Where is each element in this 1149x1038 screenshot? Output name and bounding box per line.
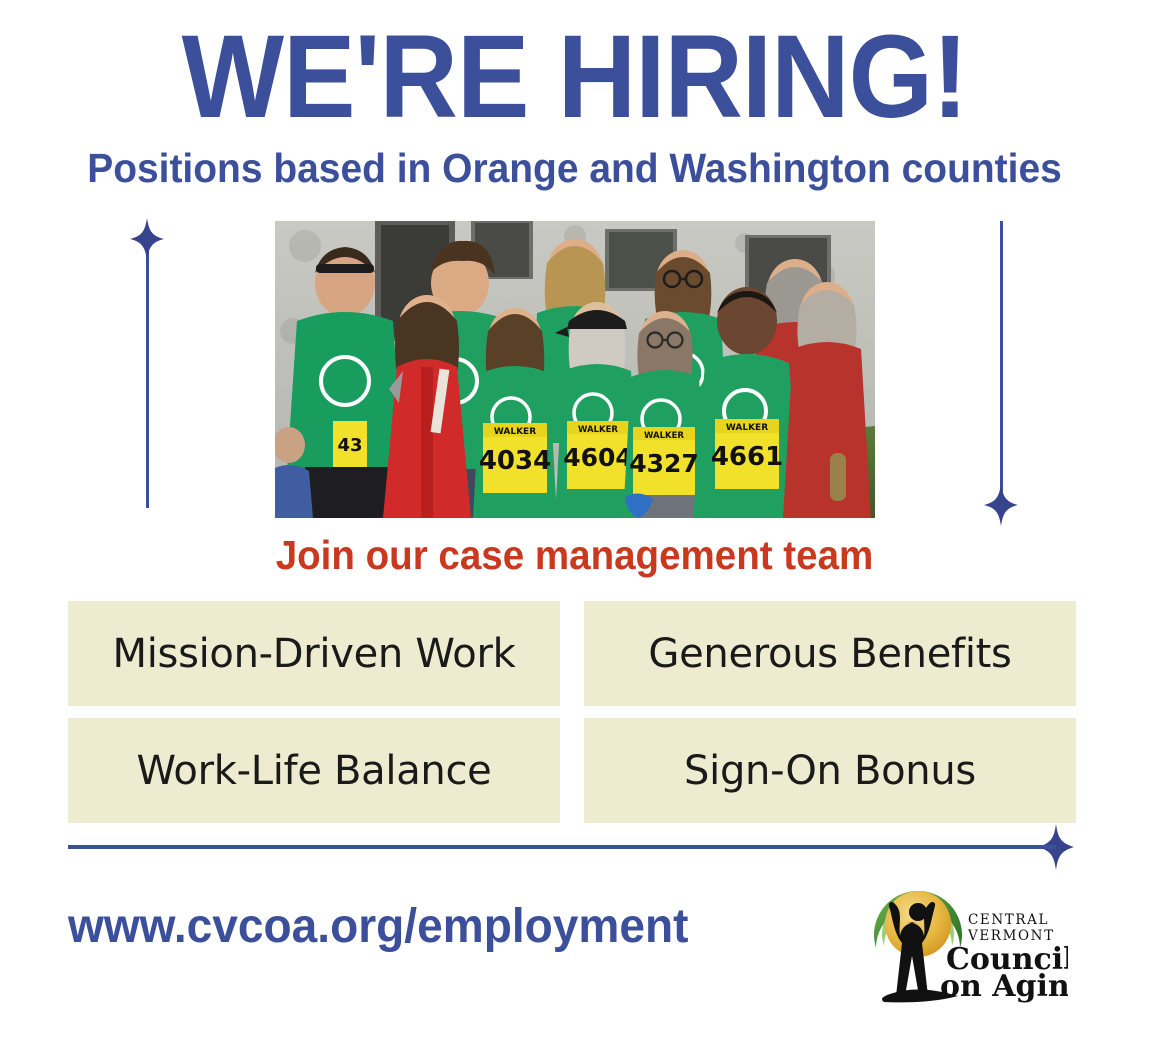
four-point-star-icon <box>130 218 164 264</box>
svg-text:4661: 4661 <box>711 442 783 472</box>
benefit-box: Sign-On Bonus <box>584 718 1076 823</box>
svg-text:WALKER: WALKER <box>644 431 684 441</box>
hiring-flyer: WE'RE HIRING! Positions based in Orange … <box>0 0 1149 1038</box>
svg-text:4604: 4604 <box>563 443 633 472</box>
tagline: Join our case management team <box>34 535 1114 576</box>
benefit-box: Mission-Driven Work <box>68 601 560 706</box>
benefit-box: Work-Life Balance <box>68 718 560 823</box>
svg-text:4327: 4327 <box>629 449 699 478</box>
benefit-box: Generous Benefits <box>584 601 1076 706</box>
svg-text:WALKER: WALKER <box>494 427 536 437</box>
svg-text:WALKER: WALKER <box>578 425 618 435</box>
benefit-label: Mission-Driven Work <box>113 631 516 677</box>
cvcoa-logo: CENTRAL VERMONT Council on Aging <box>868 872 1068 1006</box>
svg-text:CENTRAL: CENTRAL <box>968 912 1049 928</box>
benefit-label: Generous Benefits <box>648 631 1011 677</box>
page-subtitle: Positions based in Orange and Washington… <box>29 148 1121 189</box>
benefit-label: Work-Life Balance <box>137 748 492 794</box>
svg-text:WALKER: WALKER <box>726 423 768 433</box>
four-point-star-icon <box>984 482 1018 528</box>
page-title: WE'RE HIRING! <box>46 18 1103 136</box>
website-url[interactable]: www.cvcoa.org/employment <box>68 903 689 951</box>
svg-text:on Aging: on Aging <box>940 969 1068 1004</box>
svg-text:4034: 4034 <box>479 446 551 476</box>
team-photo: 43 <box>275 221 875 518</box>
svg-text:43: 43 <box>337 435 362 456</box>
divider <box>68 845 1056 849</box>
decorative-vertical-rule-right <box>1000 221 1003 494</box>
decorative-vertical-rule-left <box>146 250 149 508</box>
benefit-label: Sign-On Bonus <box>684 748 976 794</box>
